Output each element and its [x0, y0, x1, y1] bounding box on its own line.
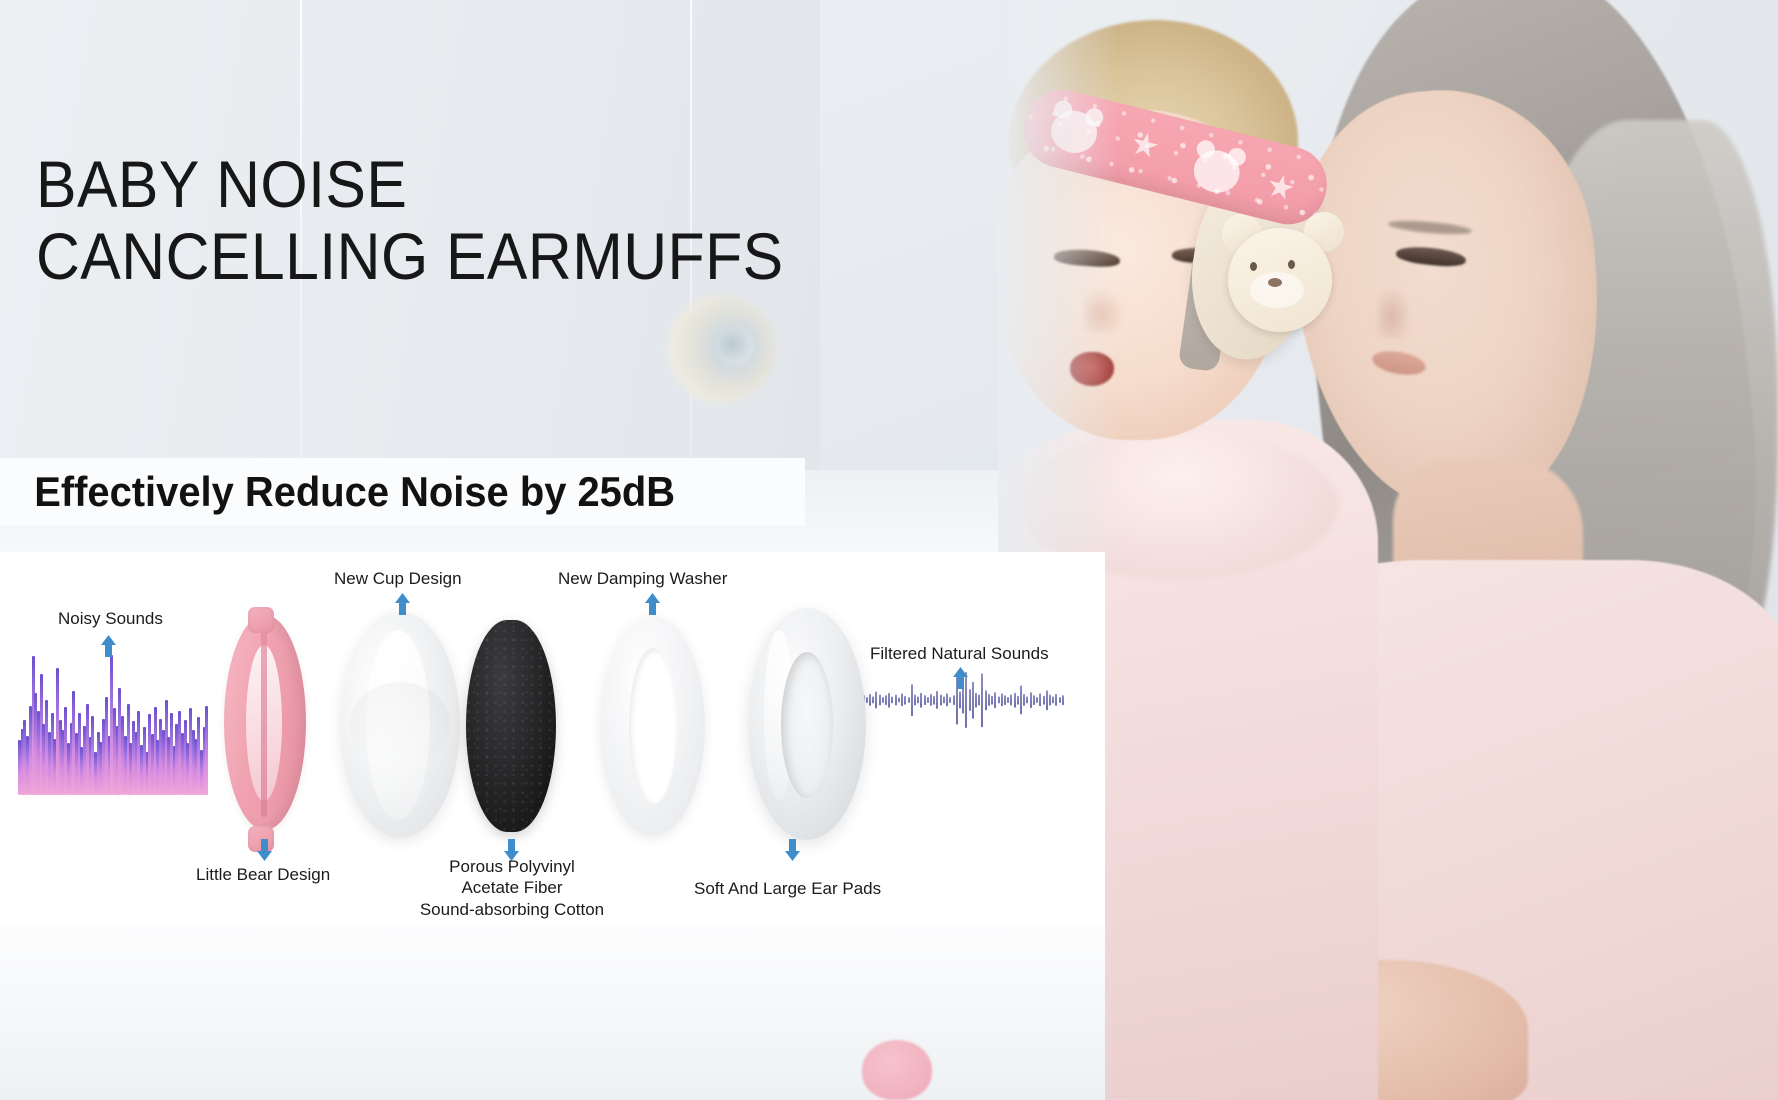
waveform-bar [927, 697, 929, 703]
arrow-down-icon [256, 838, 273, 862]
waveform-bar [1007, 697, 1009, 703]
waveform-bar [920, 693, 922, 708]
waveform-bar [1004, 695, 1006, 705]
label-new-damping-washer: New Damping Washer [558, 568, 727, 589]
waveform-bar [962, 687, 964, 714]
arrow-up-icon [394, 592, 411, 616]
waveform-bar [879, 695, 881, 706]
waveform-bar [994, 692, 996, 708]
waveform-bar [1052, 696, 1054, 703]
cotton-label-line-2: Acetate Fiber [392, 877, 632, 898]
waveform-bar [933, 696, 935, 705]
waveform-bar [1043, 696, 1045, 705]
arrow-up-icon [100, 634, 117, 658]
waveform-bar [866, 697, 868, 703]
waveform-bar [946, 693, 948, 706]
waveform-bar [904, 696, 906, 705]
subheadline-banner: Effectively Reduce Noise by 25dB [0, 458, 805, 526]
waveform-bar [888, 693, 890, 708]
waveform-bar [1030, 692, 1032, 708]
waveform-bar [1039, 693, 1041, 706]
waveform-bar [972, 682, 974, 719]
waveform-bar [936, 691, 938, 709]
waveform-bar [875, 692, 877, 709]
waveform-bar [1010, 695, 1012, 706]
waveform-bar [1033, 695, 1035, 705]
diagram-bottom-fill [0, 924, 1105, 1100]
waveform-bar [895, 695, 897, 706]
label-soft-and-large-ear-pads: Soft And Large Ear Pads [694, 878, 881, 899]
arrow-up-icon [952, 666, 969, 690]
waveform-bar [998, 696, 1000, 703]
waveform-bar [969, 689, 971, 711]
waveform-bar [869, 694, 871, 706]
waveform-bar [1023, 694, 1025, 706]
label-noisy-sounds: Noisy Sounds [58, 608, 163, 629]
waveform-bar [1001, 693, 1003, 706]
waveform-bar [1062, 695, 1064, 705]
headline-line-2: CANCELLING EARMUFFS [36, 221, 784, 292]
part-little-bear-frame [224, 615, 306, 830]
waveform-bar [911, 684, 913, 716]
waveform-bar [901, 693, 903, 706]
arrow-down-icon [784, 838, 801, 862]
mother-nose [1378, 286, 1412, 338]
waveform-bar [930, 694, 932, 706]
waveform-bar [908, 697, 910, 703]
waveform-bar [985, 690, 987, 710]
bear-eye-left [1250, 262, 1257, 271]
waveform-bar [953, 695, 955, 705]
lifestyle-photo [998, 0, 1778, 1100]
waveform-bar [981, 673, 983, 727]
waveform-bar [975, 693, 977, 708]
waveform-bar [943, 696, 945, 703]
part-new-cup [340, 612, 460, 838]
waveform-bar [978, 695, 980, 706]
waveform-bar [924, 695, 926, 705]
damping-washer-hole [629, 648, 677, 804]
headline-line-1: BABY NOISE [36, 147, 407, 221]
waveform-bar [917, 696, 919, 703]
waveform-bar [891, 696, 893, 703]
waveform-bar [940, 695, 942, 706]
waveform-bar [1059, 697, 1061, 703]
noisy-sounds-waveform [18, 655, 208, 795]
label-sound-absorbing-cotton: Porous Polyvinyl Acetate Fiber Sound-abs… [392, 856, 632, 920]
waveform-bar [1049, 695, 1051, 706]
waveform-bar [1026, 696, 1028, 703]
bear-eye-right [1288, 260, 1295, 269]
bottom-bear-detail [862, 1040, 932, 1100]
frame-clip-top [248, 607, 274, 633]
waveform-bar [872, 696, 874, 703]
waveform-bar [1020, 685, 1022, 714]
waveform-bar [914, 695, 916, 706]
waveform-bar [1014, 693, 1016, 708]
cotton-label-line-3: Sound-absorbing Cotton [392, 899, 632, 920]
label-little-bear-design: Little Bear Design [196, 864, 330, 885]
waveform-bar [1055, 694, 1057, 706]
waveform-bar [959, 692, 961, 709]
waveform-bar [1017, 696, 1019, 705]
waveform-bar [898, 698, 900, 703]
waveform-bar [949, 697, 951, 703]
marketing-image-canvas: BABY NOISE CANCELLING EARMUFFS Effective… [0, 0, 1778, 1100]
page-title: BABY NOISE CANCELLING EARMUFFS [36, 78, 784, 363]
waveform-bar [988, 694, 990, 706]
waveform-bar [1036, 697, 1038, 703]
arrow-up-icon [644, 592, 661, 616]
waveform-bar [205, 706, 208, 796]
waveform-bar [885, 695, 887, 705]
bear-nose [1268, 278, 1282, 287]
waveform-bar [882, 697, 884, 703]
cotton-label-line-1: Porous Polyvinyl [392, 856, 632, 877]
part-sound-absorbing-cotton [466, 620, 556, 832]
label-filtered-natural-sounds: Filtered Natural Sounds [870, 643, 1049, 664]
waveform-bar [1046, 690, 1048, 710]
ear-pad-hole [781, 652, 833, 798]
label-new-cup-design: New Cup Design [334, 568, 462, 589]
subheadline-text: Effectively Reduce Noise by 25dB [0, 468, 675, 516]
waveform-bar [991, 696, 993, 705]
